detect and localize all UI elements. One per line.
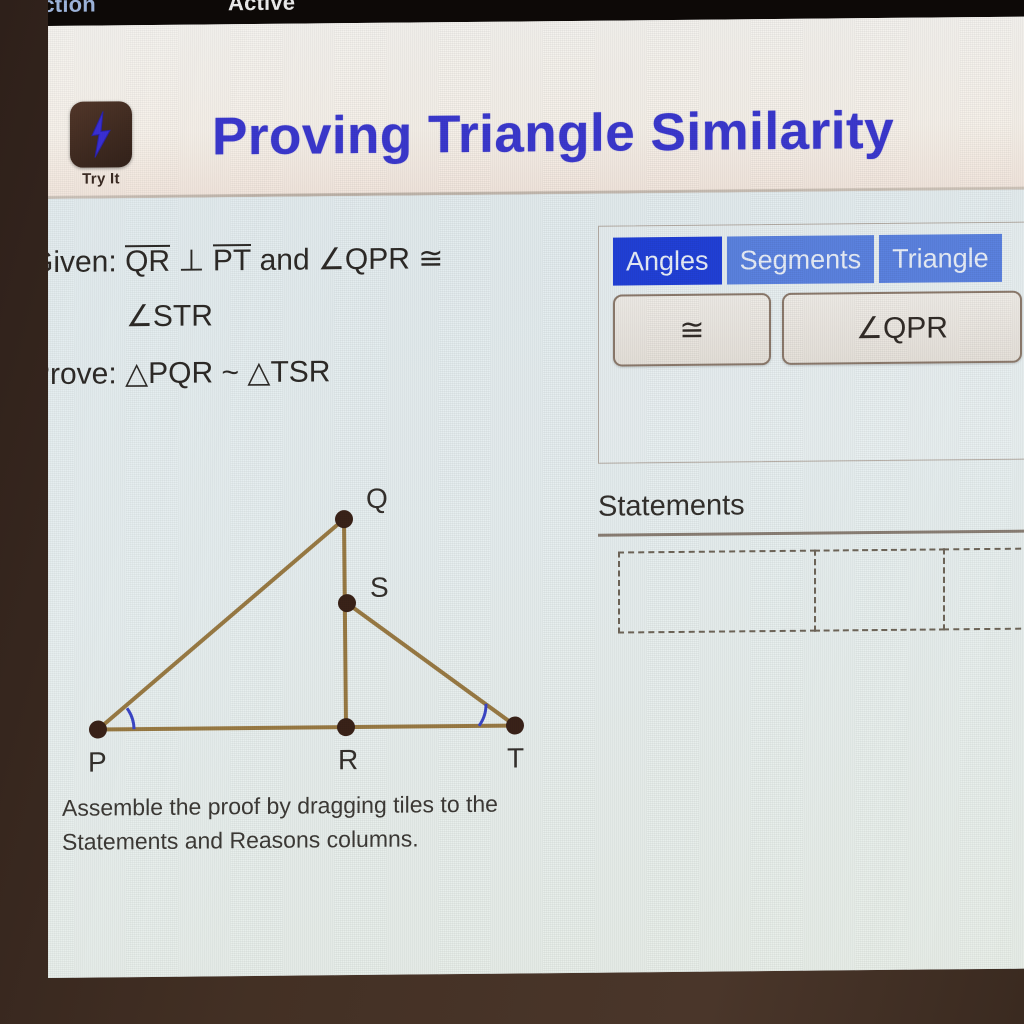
geometry-figure: P R T Q S (52, 479, 572, 784)
vertex-label-s: S (370, 572, 389, 603)
screen-surface: struction Active Try It Proving Triangle… (48, 0, 1024, 978)
vertex-point-q (335, 510, 353, 528)
tab-segments[interactable]: Segments (727, 235, 875, 284)
vertex-point-s (338, 594, 356, 612)
topbar-status-label: Active (228, 0, 295, 16)
angle-str: ∠STR (126, 299, 213, 333)
segment-p-q (98, 519, 344, 729)
statements-column-header: Statements (598, 489, 745, 523)
given-line-1: Given: QR ⊥ PT and ∠QPR ≅ (48, 230, 560, 290)
vertex-label-r: R (338, 744, 358, 775)
vertex-point-r (337, 718, 355, 736)
tile-tray-panel: Angles Segments Triangle ≅ ∠QPR ∠ (598, 221, 1024, 463)
given-line-2: ∠STR (48, 285, 560, 345)
vertex-point-t (506, 716, 524, 734)
vertex-label-q: Q (366, 483, 388, 514)
triangle-tsr: △TSR (247, 355, 330, 389)
problem-statement: Given: QR ⊥ PT and ∠QPR ≅ ∠STR Prove: △P… (48, 230, 560, 402)
dropzone-cell-3[interactable] (943, 547, 1024, 630)
draggable-tiles: ≅ ∠QPR ∠ (613, 289, 1024, 367)
tile-category-tabs: Angles Segments Triangle (613, 234, 1002, 286)
dropzone-cell-2[interactable] (814, 548, 945, 631)
vertex-point-p (89, 720, 107, 738)
segment-qr: QR (125, 245, 170, 277)
activity-work-area: Given: QR ⊥ PT and ∠QPR ≅ ∠STR Prove: △P… (48, 190, 1024, 978)
prove-line: Prove: △PQR ~ △TSR (48, 342, 560, 402)
angle-arc-p (127, 708, 134, 729)
try-it-label: Try It (64, 170, 138, 188)
try-it-badge (70, 101, 132, 168)
segment-q-r (344, 519, 346, 727)
similar-symbol: ~ (222, 356, 240, 389)
tab-triangles[interactable]: Triangle (879, 234, 1002, 283)
drag-instruction-text: Assemble the proof by dragging tiles to … (62, 786, 592, 859)
given-label: Given: (48, 245, 117, 279)
triangle-pqr: △PQR (125, 356, 213, 390)
try-it-badge-group: Try It (64, 101, 138, 188)
segment-pt: PT (213, 244, 251, 276)
congruent-symbol: ≅ (418, 242, 443, 275)
tab-angles[interactable]: Angles (613, 237, 722, 286)
perpendicular-symbol: ⊥ (178, 244, 204, 277)
tile-congruent-symbol[interactable]: ≅ (613, 293, 771, 367)
given-conjunction: and (260, 243, 310, 276)
statements-dropzone-row (618, 547, 1024, 633)
statements-header-rule (598, 530, 1024, 537)
segment-p-t (98, 726, 515, 730)
angle-qpr: ∠QPR (318, 243, 410, 277)
tile-angle-qpr[interactable]: ∠QPR (782, 291, 1022, 365)
segment-s-t (347, 602, 515, 728)
topbar-instruction-label[interactable]: struction (48, 0, 96, 18)
dropzone-cell-1[interactable] (618, 550, 816, 634)
page-title: Proving Triangle Similarity (212, 100, 894, 168)
vertex-label-t: T (507, 742, 524, 773)
prove-label: Prove: (48, 357, 117, 391)
vertex-label-p: P (88, 746, 107, 777)
page-header: Try It Proving Triangle Similarity (48, 17, 1024, 199)
angle-arc-t (479, 704, 486, 726)
